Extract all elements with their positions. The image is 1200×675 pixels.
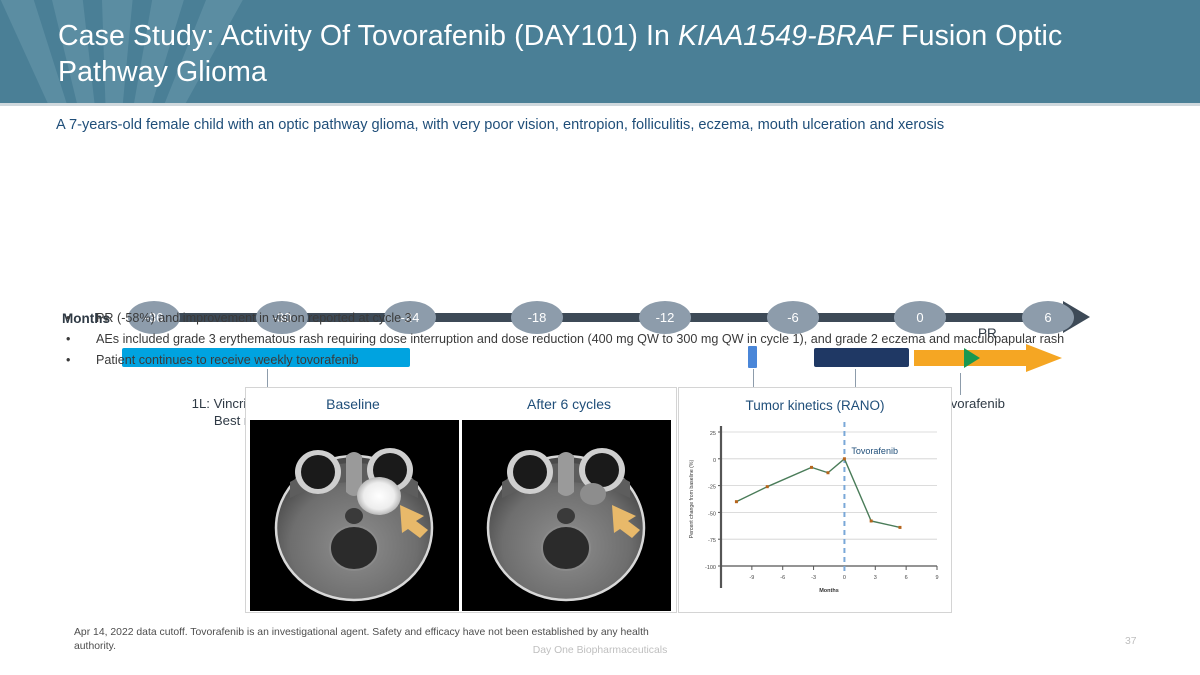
mri-title-baseline: Baseline [246,388,460,420]
svg-text:-50: -50 [708,511,716,517]
list-item-text: AEs included grade 3 erythematous rash r… [96,332,1064,346]
slide-header: Case Study: Activity Of Tovorafenib (DAY… [0,0,1200,103]
leader-line-third-line [960,373,961,395]
mri-image-after-6-cycles [462,420,671,611]
bullet-dot-icon: • [66,329,70,350]
tumor-kinetics-chart: Tumor kinetics (RANO) 250-25-50-75-100-9… [678,387,952,613]
treatment-timeline: Months -36 -30 -24 -18 -12 -6 0 6 PR 1L:… [0,148,1200,298]
svg-text:Months: Months [819,588,839,594]
list-item-text: Patient continues to receive weekly tovo… [96,353,359,367]
mri-title-after: After 6 cycles [462,388,676,420]
svg-text:-75: -75 [708,538,716,544]
mri-image-baseline [250,420,459,611]
bullet-dot-icon: • [66,350,70,371]
title-text-1: Case Study: Activity Of Tovorafenib (DAY… [58,20,678,52]
title-gene-italic: KIAA1549-BRAF [678,20,893,52]
list-item-text: PR (-58%) and improvement in vision repo… [96,311,412,325]
svg-text:0: 0 [713,458,716,464]
svg-text:Percent change from baseline (: Percent change from baseline (%) [689,460,695,539]
svg-text:25: 25 [710,431,716,437]
list-item: •AEs included grade 3 erythematous rash … [60,329,1180,350]
svg-text:-25: -25 [708,485,716,491]
chart-title: Tumor kinetics (RANO) [679,398,951,413]
key-findings-list: •PR (-58%) and improvement in vision rep… [60,308,1180,371]
svg-text:9: 9 [935,575,938,581]
svg-text:3: 3 [874,575,877,581]
slide-number: 37 [1125,636,1137,647]
svg-text:-9: -9 [749,575,754,581]
svg-text:0: 0 [843,575,846,581]
svg-text:Tovorafenib: Tovorafenib [851,446,898,456]
svg-text:-100: -100 [705,565,716,571]
svg-text:6: 6 [905,575,908,581]
page-title: Case Study: Activity Of Tovorafenib (DAY… [58,18,1138,90]
chart-canvas: 250-25-50-75-100-9-6-30369MonthsPercent … [679,416,951,612]
bullet-dot-icon: • [66,308,70,329]
header-divider [0,103,1200,106]
svg-text:-3: -3 [811,575,816,581]
brand-watermark: Day One Biopharmaceuticals [0,645,1200,656]
mri-comparison-panel: Baseline After 6 cycles [245,387,677,613]
case-description: A 7-years-old female child with an optic… [56,115,1166,135]
list-item: •Patient continues to receive weekly tov… [60,350,1180,371]
list-item: •PR (-58%) and improvement in vision rep… [60,308,1180,329]
svg-text:-6: -6 [780,575,785,581]
